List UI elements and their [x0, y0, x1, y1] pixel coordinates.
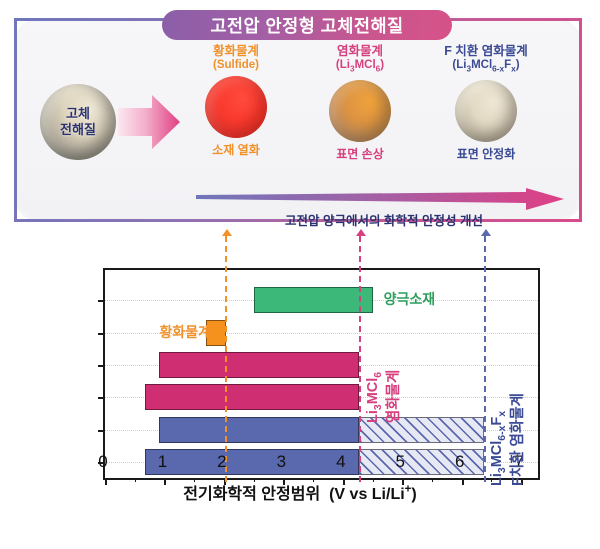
sulfide-caption: 황화물계	[176, 44, 296, 58]
improvement-arrow	[196, 188, 564, 210]
x-axis-tick-label: 0	[98, 452, 107, 472]
f-substituted-subcaption: (Li3MCl6-xFx)	[426, 58, 546, 76]
f-substituted-bottom-label: 표면 안정화	[426, 145, 546, 162]
fluoride-group-label-text: F치환 염화물계	[506, 393, 527, 486]
solid-electrolyte-label-line2: 전해질	[60, 122, 96, 137]
f-substituted-caption: F 치환 염화물계	[426, 44, 546, 58]
x-axis-tick-label: 2	[217, 452, 226, 472]
plot-area	[103, 268, 540, 480]
cream-sphere	[455, 80, 517, 142]
orange-sphere	[329, 80, 391, 142]
sulfide-bottom-label: 소재 열화	[176, 141, 296, 158]
chloride-subcaption: (Li3MCl6)	[300, 58, 420, 76]
y-axis-tick	[98, 430, 105, 432]
column-f-substituted: F 치환 염화물계 (Li3MCl6-xFx) 표면 안정화	[426, 44, 546, 162]
arrow-head-icon	[222, 229, 232, 236]
bar	[145, 384, 360, 410]
x-axis-tick-label: 3	[277, 452, 286, 472]
schematic-panel: 고전압 안정형 고체전해질 고체 전해질 황화물계 (Sulfide) 소재 열…	[14, 10, 586, 228]
red-sphere	[205, 76, 267, 138]
y-axis-tick	[98, 365, 105, 367]
y-axis-tick	[98, 397, 105, 399]
solid-electrolyte-sphere: 고체 전해질	[40, 84, 116, 160]
cathode-annotation: 양극소재	[384, 289, 436, 309]
chloride-bottom-label: 표면 손상	[300, 145, 420, 162]
chloride-limit	[359, 236, 361, 482]
bar	[159, 417, 360, 443]
chloride-group-label-formula: Li3MCl6	[365, 372, 384, 423]
bar	[145, 449, 360, 475]
fluoride-limit	[484, 236, 486, 482]
column-sulfide: 황화물계 (Sulfide) 소재 열화	[176, 44, 296, 158]
solid-electrolyte-label-line1: 고체	[66, 106, 90, 121]
chloride-group-label-text: 염화물계	[382, 370, 403, 423]
arrow-head-icon	[481, 229, 491, 236]
bar-extension	[359, 449, 484, 475]
schematic-title: 고전압 안정형 고체전해질	[210, 13, 403, 38]
pink-transition-arrow	[118, 92, 180, 152]
x-axis-title-unit: (V vs Li/Li+)	[329, 486, 417, 503]
sulfide-subcaption: (Sulfide)	[176, 58, 296, 72]
solid-electrolyte-label: 고체 전해질	[60, 106, 96, 138]
y-axis-tick	[98, 333, 105, 335]
sulfide-limit	[225, 236, 227, 482]
x-axis-tick-label: 4	[336, 452, 345, 472]
bar	[254, 287, 373, 313]
improvement-caption: 고전압 양극에서의 화학적 안정성 개선	[184, 210, 584, 229]
sulfide-annotation: 황화물계	[159, 322, 211, 342]
stability-window-chart: 전기화학적 안정범위 (V vs Li/Li+) CathodesLi6PS5C…	[0, 236, 600, 549]
x-axis-tick-label: 1	[158, 452, 167, 472]
y-axis-tick	[98, 300, 105, 302]
schematic-title-banner: 고전압 안정형 고체전해질	[162, 10, 452, 40]
chloride-caption: 염화물계	[300, 44, 420, 58]
x-axis-title-main: 전기화학적 안정범위	[183, 486, 320, 503]
bar	[159, 352, 360, 378]
x-axis-tick-label: 6	[455, 452, 464, 472]
x-axis-tick-label: 5	[396, 452, 405, 472]
column-chloride: 염화물계 (Li3MCl6) 표면 손상	[300, 44, 420, 162]
arrow-head-icon	[356, 229, 366, 236]
